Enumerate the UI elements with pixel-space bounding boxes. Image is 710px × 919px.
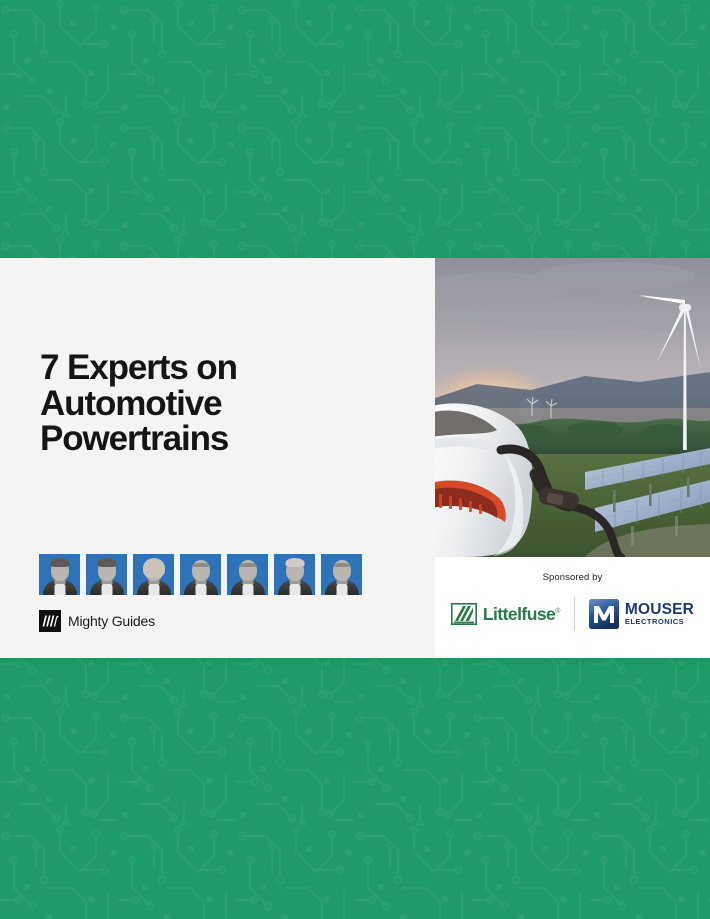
mouser-m-square-icon: [589, 599, 619, 629]
sponsor-logos-row: Littelfuse®: [437, 597, 708, 631]
mighty-guides-m-icon: [39, 610, 61, 632]
hero-illustration: [435, 258, 710, 557]
expert-headshot-7: [321, 554, 362, 595]
mouser-name: MOUSER: [625, 602, 694, 618]
title-line-2: Automotive: [40, 384, 222, 423]
expert-headshot-4: [180, 554, 221, 595]
mighty-guides-logo[interactable]: Mighty Guides: [39, 610, 155, 632]
registered-trademark-icon: ®: [555, 608, 560, 615]
expert-headshot-6: [274, 554, 315, 595]
portrait-icon: [180, 554, 221, 595]
littelfuse-name: Littelfuse: [483, 604, 555, 624]
mighty-guides-wordmark: Mighty Guides: [68, 613, 155, 629]
mouser-wordmark: MOUSER ELECTRONICS: [625, 602, 694, 626]
expert-headshots-strip: [39, 554, 362, 595]
portrait-icon: [274, 554, 315, 595]
portrait-icon: [321, 554, 362, 595]
portrait-icon: [39, 554, 80, 595]
sponsor-slot-littelfuse[interactable]: Littelfuse®: [437, 603, 574, 625]
littelfuse-stripes-icon: [451, 603, 477, 625]
sponsor-slot-mouser[interactable]: MOUSER ELECTRONICS: [575, 599, 708, 629]
cover-left-panel: 7 Experts onAutomotivePowertrains: [0, 258, 435, 658]
littelfuse-wordmark: Littelfuse®: [483, 604, 560, 625]
title-line-3: Powertrains: [40, 419, 228, 458]
sponsor-block: Sponsored by Littelfus: [435, 557, 710, 658]
mouser-subtitle: ELECTRONICS: [625, 618, 694, 626]
page-title: 7 Experts onAutomotivePowertrains: [40, 350, 370, 457]
littelfuse-logo[interactable]: Littelfuse®: [451, 603, 560, 625]
title-line-1: 7 Experts on: [40, 348, 237, 387]
portrait-icon: [133, 554, 174, 595]
expert-headshot-2: [86, 554, 127, 595]
expert-headshot-3: [133, 554, 174, 595]
ebook-cover-card: 7 Experts onAutomotivePowertrains: [0, 258, 710, 658]
expert-headshot-1: [39, 554, 80, 595]
mouser-electronics-logo[interactable]: MOUSER ELECTRONICS: [589, 599, 694, 629]
portrait-icon: [86, 554, 127, 595]
sponsored-by-label: Sponsored by: [543, 572, 603, 583]
cover-right-panel: Sponsored by Littelfus: [435, 258, 710, 658]
portrait-icon: [227, 554, 268, 595]
hero-image-ev-charging: [435, 258, 710, 557]
expert-headshot-5: [227, 554, 268, 595]
